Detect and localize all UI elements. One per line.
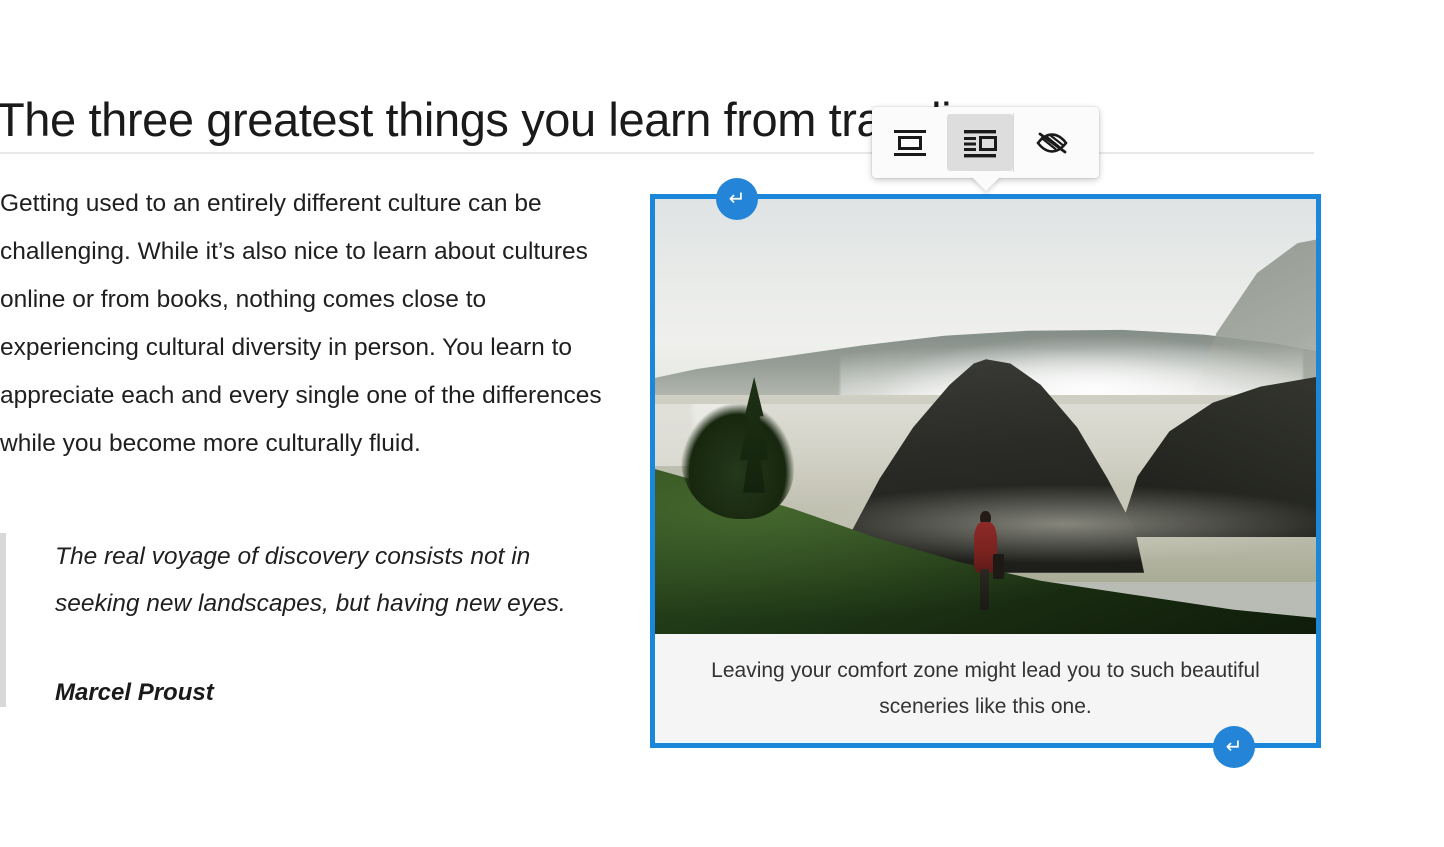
hiker-legs	[980, 569, 990, 610]
blockquote-citation[interactable]: Marcel Proust	[55, 679, 600, 707]
hide-caption-button[interactable]	[1014, 107, 1089, 178]
image-caption[interactable]: Leaving your comfort zone might lead you…	[655, 634, 1316, 743]
image-photo[interactable]	[655, 199, 1316, 644]
align-right-wrap-icon	[962, 128, 998, 158]
photo-hiker	[969, 511, 1002, 609]
enter-return-badge-top[interactable]: ↵	[716, 178, 758, 220]
blockquote-text[interactable]: The real voyage of discovery consists no…	[55, 533, 600, 627]
hiker-bag	[993, 554, 1004, 579]
body-paragraph[interactable]: Getting used to an entirely different cu…	[0, 180, 615, 468]
title-divider	[0, 152, 1314, 154]
image-alignment-toolbar[interactable]	[872, 107, 1099, 178]
image-caption-text[interactable]: Leaving your comfort zone might lead you…	[677, 653, 1294, 725]
editor-canvas: The three greatest things you learn from…	[0, 0, 1444, 847]
enter-return-badge-bottom[interactable]: ↵	[1213, 726, 1255, 768]
enter-return-icon: ↵	[729, 189, 746, 209]
align-center-icon	[892, 128, 928, 158]
photo-shrub	[681, 404, 793, 520]
eye-slash-icon	[1034, 128, 1070, 158]
enter-return-icon: ↵	[1226, 737, 1243, 757]
align-center-button[interactable]	[872, 107, 947, 178]
align-right-wrap-button[interactable]	[947, 114, 1013, 171]
toolbar-pointer	[971, 176, 1001, 191]
image-block-selected[interactable]: Leaving your comfort zone might lead you…	[650, 194, 1321, 748]
blockquote[interactable]: The real voyage of discovery consists no…	[0, 533, 600, 707]
article-body: Getting used to an entirely different cu…	[0, 180, 615, 468]
